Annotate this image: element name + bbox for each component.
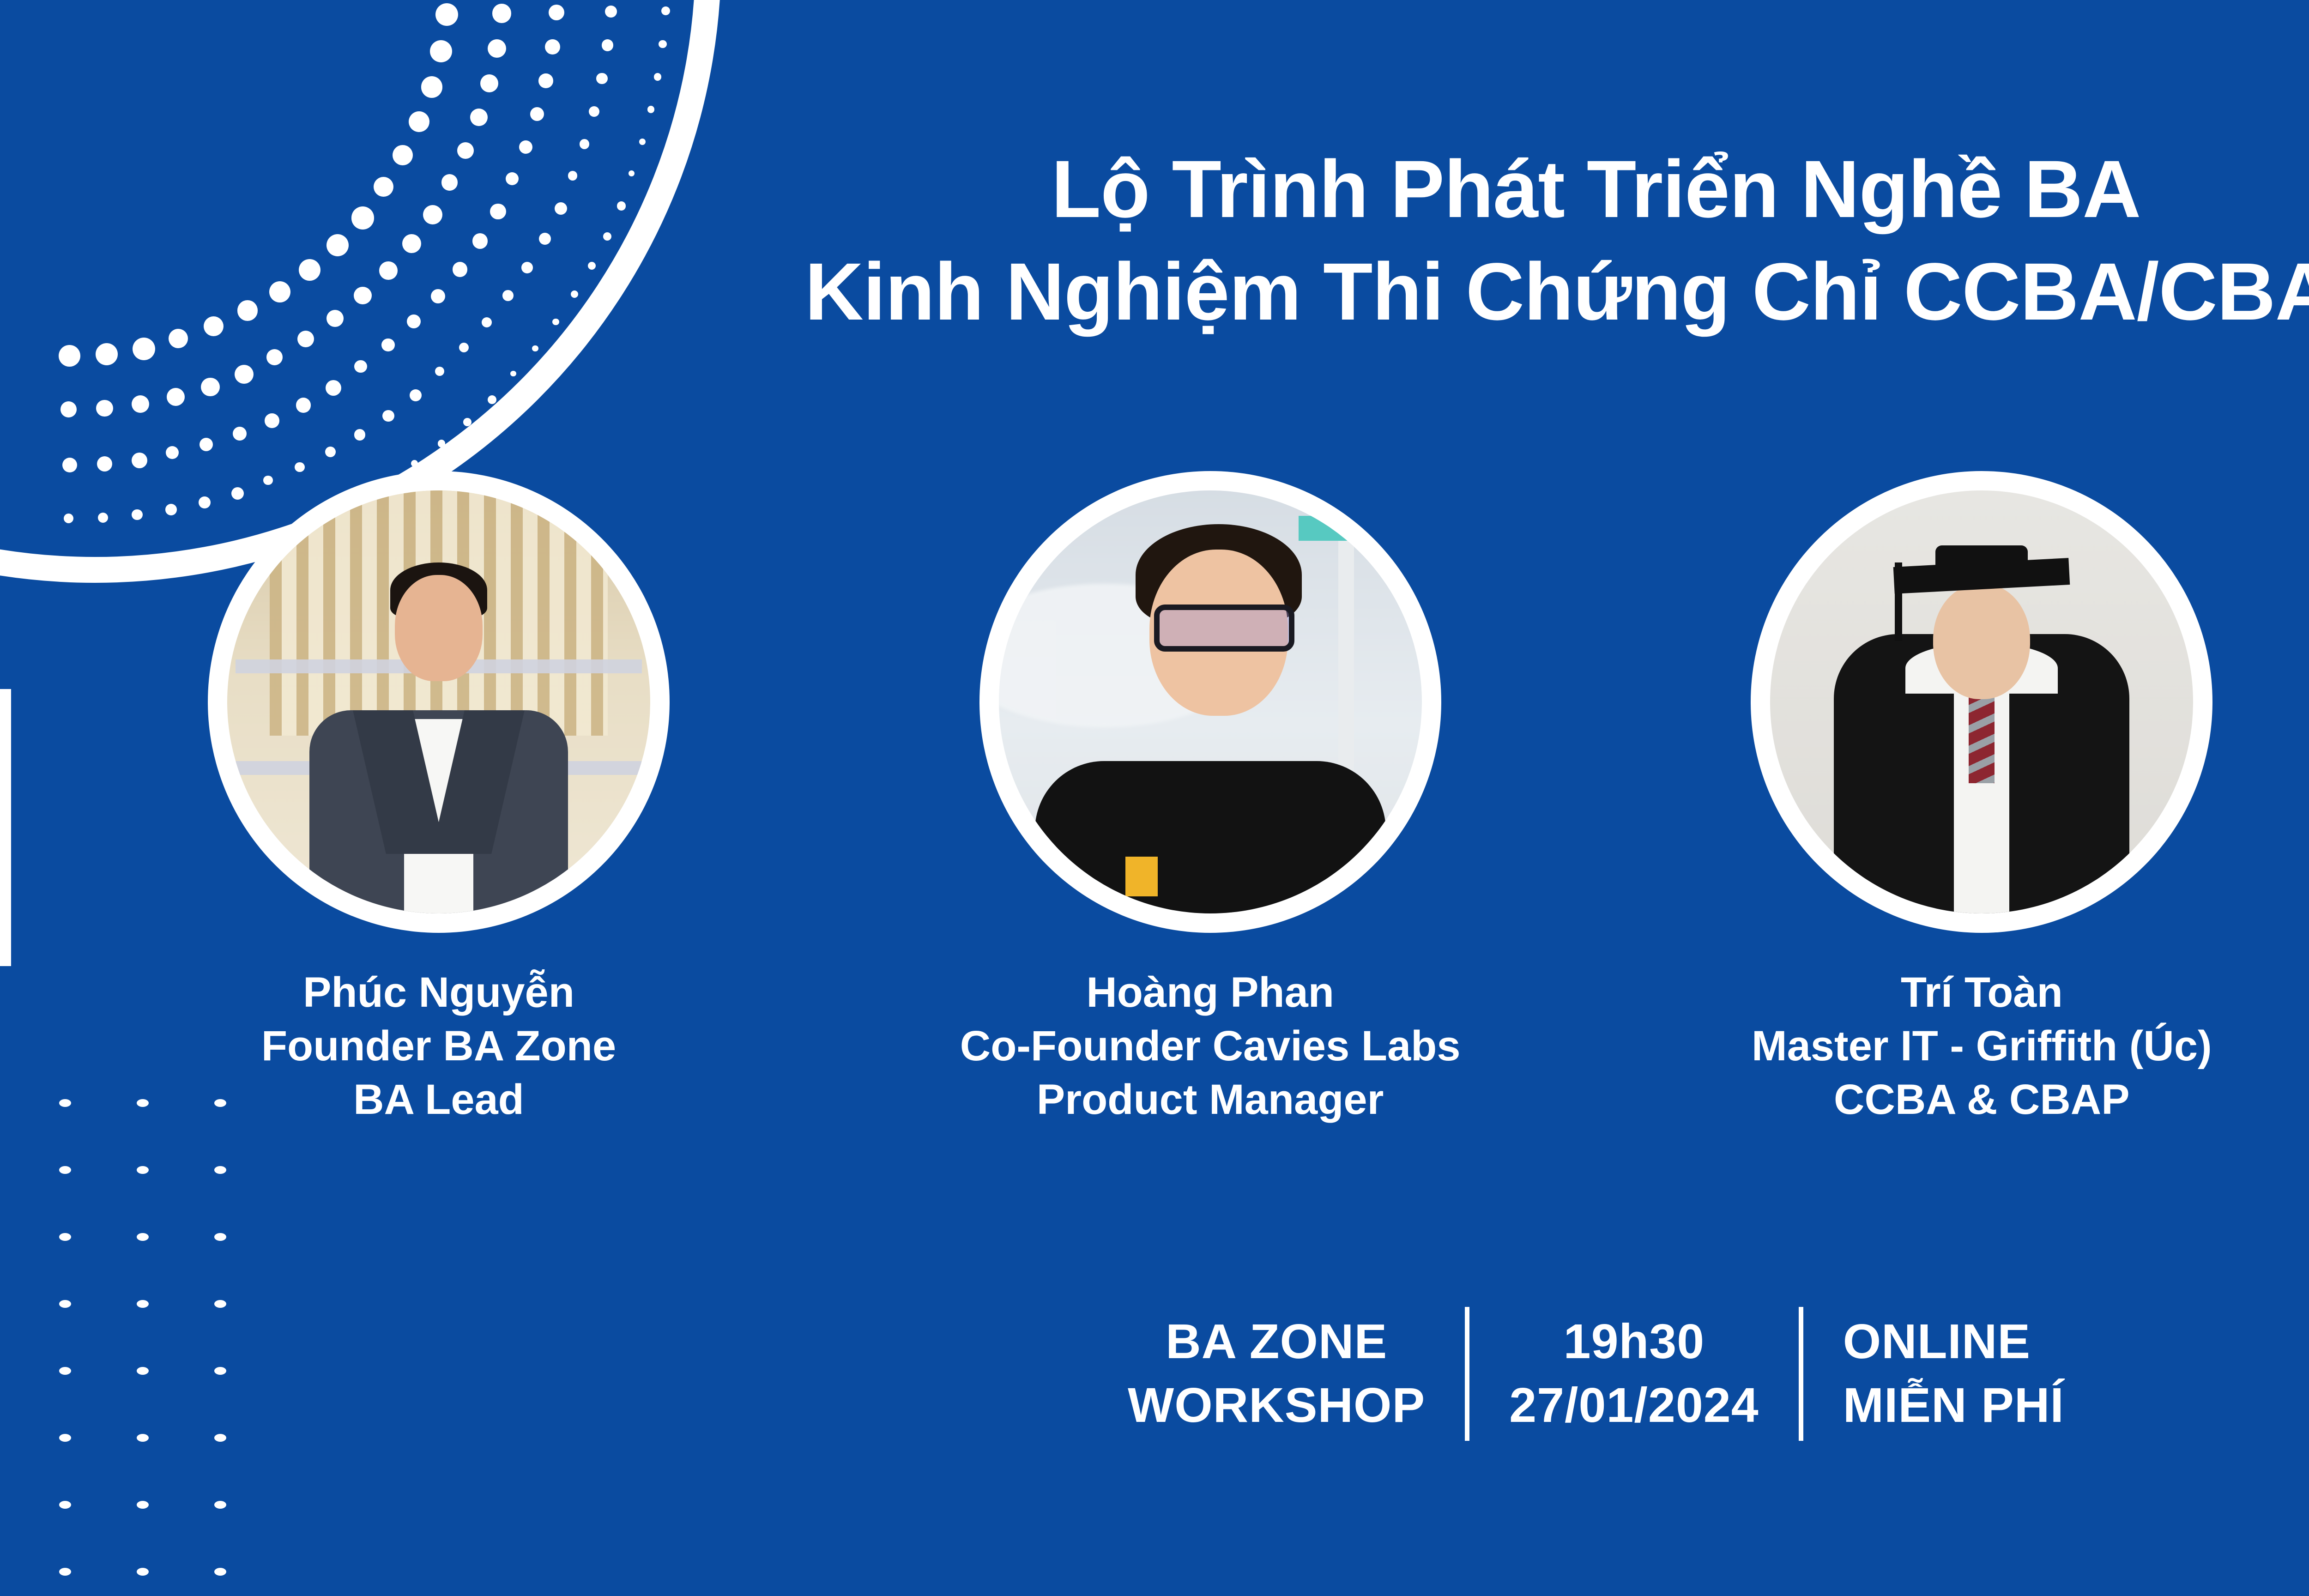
avatar <box>208 471 670 933</box>
datetime-block: 19h30 27/01/2024 <box>1469 1307 1799 1441</box>
event-info-bar: BA ZONE WORKSHOP 19h30 27/01/2024 ONLINE… <box>0 1307 2309 1441</box>
speaker-cert: BA Lead <box>261 1073 616 1127</box>
title-line-1: Lộ Trình Phát Triển Nghề BA <box>0 139 2309 241</box>
speaker-cert: CCBA & CBAP <box>1752 1073 2212 1127</box>
brand-line-2: WORKSHOP <box>1128 1374 1425 1438</box>
speaker-list: Phúc Nguyễn Founder BA Zone BA Lead <box>79 471 2309 1127</box>
event-price: MIỄN PHÍ <box>1843 1374 2064 1438</box>
page-title: Lộ Trình Phát Triển Nghề BA Kinh Nghiệm … <box>0 139 2309 344</box>
speaker-name: Hoàng Phan <box>960 966 1461 1020</box>
speaker-meta: Trí Toàn Master IT - Griffith (Úc) CCBA … <box>1752 966 2212 1127</box>
speaker-role: Master IT - Griffith (Úc) <box>1752 1020 2212 1073</box>
speaker-meta: Hoàng Phan Co-Founder Cavies Labs Produc… <box>960 966 1461 1127</box>
speaker-name: Phúc Nguyễn <box>261 966 616 1020</box>
event-time: 19h30 <box>1509 1310 1759 1374</box>
speaker-role: Co-Founder Cavies Labs <box>960 1020 1461 1073</box>
speaker-cert: Product Manager <box>960 1073 1461 1127</box>
workshop-poster: Lộ Trình Phát Triển Nghề BA Kinh Nghiệm … <box>0 0 2309 1596</box>
speaker-card: Trí Toàn Master IT - Griffith (Úc) CCBA … <box>1621 471 2309 1127</box>
avatar <box>979 471 1441 933</box>
speaker-role: Founder BA Zone <box>261 1020 616 1073</box>
speaker-photo-phuc-nguyen <box>227 490 650 913</box>
format-block: ONLINE MIỄN PHÍ <box>1803 1307 2104 1441</box>
avatar <box>1751 471 2212 933</box>
speaker-meta: Phúc Nguyễn Founder BA Zone BA Lead <box>261 966 616 1127</box>
event-date: 27/01/2024 <box>1509 1374 1759 1438</box>
speaker-card: Hoàng Phan Co-Founder Cavies Labs Produc… <box>850 471 1571 1127</box>
speaker-photo-hoang-phan <box>999 490 1422 913</box>
speaker-photo-tri-toan <box>1770 490 2193 913</box>
brand-line-1: BA ZONE <box>1128 1310 1425 1374</box>
divider-1 <box>1465 1307 1469 1441</box>
event-format: ONLINE <box>1843 1310 2064 1374</box>
speaker-name: Trí Toàn <box>1752 966 2212 1020</box>
brand-block: BA ZONE WORKSHOP <box>1088 1307 1465 1441</box>
speaker-card: Phúc Nguyễn Founder BA Zone BA Lead <box>79 471 799 1127</box>
left-edge-bar-decoration <box>0 689 11 966</box>
divider-2 <box>1799 1307 1803 1441</box>
title-line-2: Kinh Nghiệm Thi Chứng Chỉ CCBA/CBAP <box>0 241 2309 344</box>
